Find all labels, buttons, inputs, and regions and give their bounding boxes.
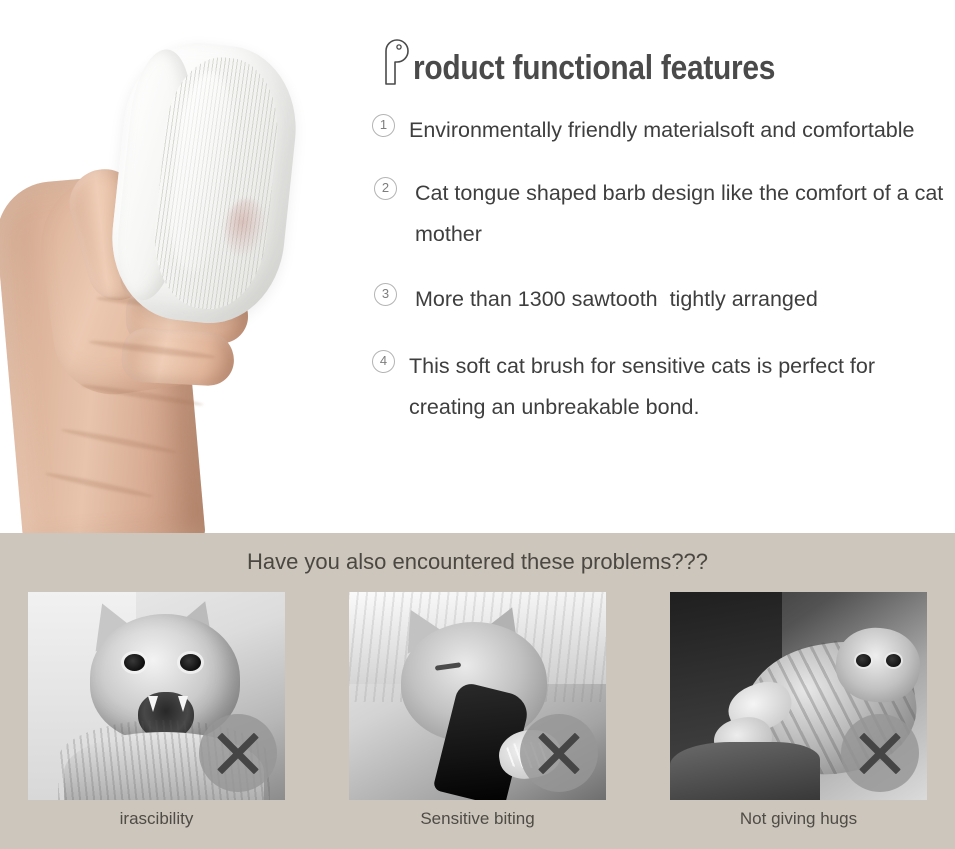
problem-card-2: Sensitive biting (349, 592, 606, 829)
problem-caption-2: Sensitive biting (349, 809, 606, 829)
page-title: roduct functional features (382, 33, 825, 88)
problem-photo-3 (670, 592, 927, 800)
x-mark-icon (841, 714, 919, 792)
features-text-column: roduct functional features 1 Environment… (360, 0, 955, 533)
page-title-text: roduct functional features (413, 49, 775, 88)
feature-text-4: This soft cat brush for sensitive cats i… (409, 346, 955, 428)
product-photo (0, 0, 360, 533)
x-mark-icon (199, 714, 277, 792)
feature-text-2: Cat tongue shaped barb design like the c… (415, 173, 955, 255)
problem-cards: irascibility (0, 592, 955, 829)
feature-text-3: More than 1300 sawtooth tightly arranged (415, 279, 818, 320)
feature-item-4: 4 This soft cat brush for sensitive cats… (360, 346, 955, 428)
problem-caption-1: irascibility (28, 809, 285, 829)
features-section: roduct functional features 1 Environment… (0, 0, 955, 533)
problem-card-1: irascibility (28, 592, 285, 829)
feature-item-1: 1 Environmentally friendly materialsoft … (360, 110, 955, 151)
problem-photo-2 (349, 592, 606, 800)
photo3-holding-hand (670, 742, 820, 800)
feature-number-2: 2 (374, 177, 397, 200)
photo1-fang-right (178, 696, 188, 712)
decorative-initial-p-icon (382, 39, 412, 85)
problem-caption-3: Not giving hugs (670, 809, 927, 829)
problems-heading: Have you also encountered these problems… (0, 549, 955, 575)
feature-number-1: 1 (372, 114, 395, 137)
product-feature-page: roduct functional features 1 Environment… (0, 0, 955, 849)
photo1-eye-left (124, 654, 145, 671)
feature-item-2: 2 Cat tongue shaped barb design like the… (360, 173, 955, 255)
cat-brush-product (104, 36, 304, 330)
problem-card-3: Not giving hugs (670, 592, 927, 829)
feature-number-3: 3 (374, 283, 397, 306)
photo3-eye-right (886, 654, 901, 667)
feature-number-4: 4 (372, 350, 395, 373)
finger-shape-3 (121, 327, 236, 387)
problems-section: Have you also encountered these problems… (0, 533, 955, 849)
feature-list: 1 Environmentally friendly materialsoft … (360, 110, 955, 450)
feature-text-1: Environmentally friendly materialsoft an… (409, 110, 914, 151)
photo1-eye-right (180, 654, 201, 671)
x-mark-icon (520, 714, 598, 792)
photo1-fang-left (148, 696, 158, 712)
problem-photo-1 (28, 592, 285, 800)
product-photo-canvas (0, 0, 360, 533)
feature-item-3: 3 More than 1300 sawtooth tightly arrang… (360, 279, 955, 320)
photo3-eye-left (856, 654, 871, 667)
